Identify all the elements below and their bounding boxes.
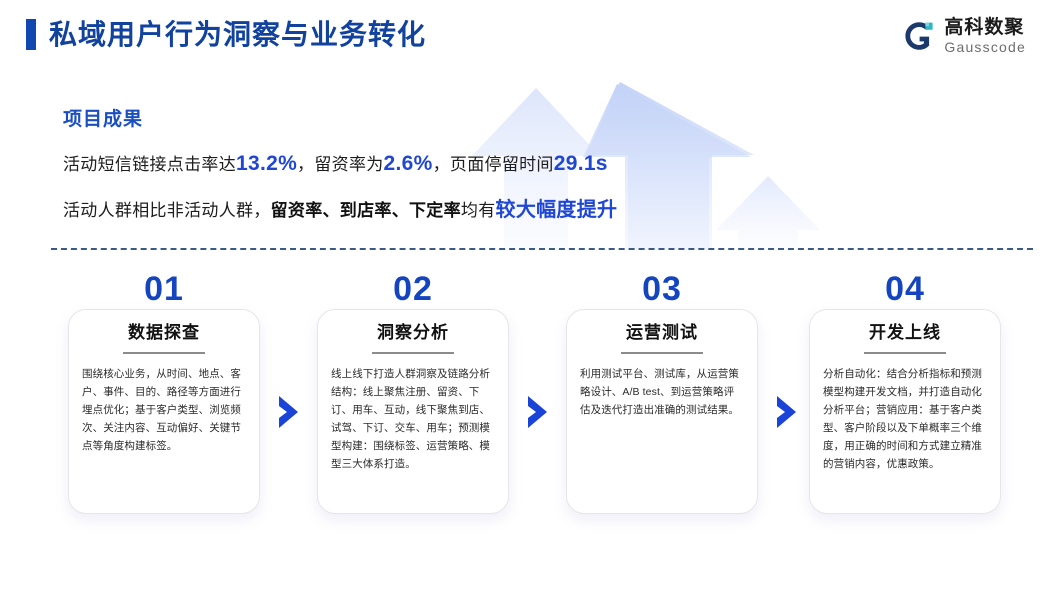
- results-line-2: 活动人群相比非活动人群，留资率、到店率、下定率均有较大幅度提升: [63, 200, 617, 220]
- step-description-02: 线上线下打造人群洞察及链路分析结构：线上聚焦注册、留资、下订、用车、互动，线下聚…: [331, 365, 495, 473]
- metric-dwell-time: 29.1s: [554, 152, 608, 175]
- process-steps: 01 数据探查 围绕核心业务，从时间、地点、客户、事件、目的、路径等方面进行埋点…: [0, 272, 1048, 532]
- logo-name-en: Gausscode: [944, 40, 1026, 54]
- results-line-1: 活动短信链接点击率达13.2%，留资率为2.6%，页面停留时间29.1s: [63, 153, 617, 174]
- results-heading: 项目成果: [63, 110, 617, 129]
- metric-click-rate: 13.2%: [236, 152, 297, 175]
- step-card-body-03[interactable]: 运营测试 利用测试平台、测试库，从运营策略设计、A/B test、到运营策略评估…: [566, 309, 758, 514]
- step-number-03: 03: [566, 272, 758, 310]
- step-card-02[interactable]: 02 洞察分析 线上线下打造人群洞察及链路分析结构：线上聚焦注册、留资、下订、用…: [317, 272, 509, 514]
- step-number-01: 01: [68, 272, 260, 310]
- page-title: 私域用户行为洞察与业务转化: [26, 19, 426, 50]
- logo-text: 高科数聚 Gausscode: [944, 18, 1026, 54]
- section-divider: [51, 248, 1033, 250]
- step-title-01: 数据探查: [82, 324, 246, 343]
- chevron-right-icon-1: [276, 394, 302, 430]
- results-line2-seg1: 活动人群相比非活动人群，: [63, 201, 271, 220]
- step-title-03: 运营测试: [580, 324, 744, 343]
- chevron-right-icon-3: [774, 394, 800, 430]
- step-number-02: 02: [317, 272, 509, 310]
- step-card-body-04[interactable]: 开发上线 分析自动化：结合分析指标和预测模型构建开发文档，并打造自动化分析平台；…: [809, 309, 1001, 514]
- step-card-01[interactable]: 01 数据探查 围绕核心业务，从时间、地点、客户、事件、目的、路径等方面进行埋点…: [68, 272, 260, 514]
- project-results-section: 项目成果 活动短信链接点击率达13.2%，留资率为2.6%，页面停留时间29.1…: [63, 110, 617, 220]
- results-line2-bold-metrics: 留资率、到店率、下定率: [271, 201, 461, 220]
- logo-mark-icon: [902, 19, 936, 53]
- title-text: 私域用户行为洞察与业务转化: [49, 21, 426, 49]
- step-description-03: 利用测试平台、测试库，从运营策略设计、A/B test、到运营策略评估及迭代打造…: [580, 365, 744, 419]
- slide-header: 私域用户行为洞察与业务转化 高科数聚 Gausscode: [0, 0, 1048, 80]
- step-card-04[interactable]: 04 开发上线 分析自动化：结合分析指标和预测模型构建开发文档，并打造自动化分析…: [809, 272, 1001, 514]
- title-accent-bar: [26, 19, 36, 50]
- step-card-03[interactable]: 03 运营测试 利用测试平台、测试库，从运营策略设计、A/B test、到运营策…: [566, 272, 758, 514]
- results-line2-emphasis: 较大幅度提升: [496, 199, 618, 221]
- step-title-04: 开发上线: [823, 324, 987, 343]
- results-line2-seg2: 均有: [461, 201, 496, 220]
- step-title-rule-01: [123, 352, 205, 354]
- decor-arrow-right: [716, 176, 820, 250]
- step-number-04: 04: [809, 272, 1001, 310]
- step-description-04: 分析自动化：结合分析指标和预测模型构建开发文档，并打造自动化分析平台；营销应用：…: [823, 365, 987, 473]
- slide-root: 私域用户行为洞察与业务转化 高科数聚 Gausscode 项目成果 活动短信链接…: [0, 0, 1048, 591]
- results-line1-seg2: ，留资率为: [297, 155, 384, 174]
- step-card-body-01[interactable]: 数据探查 围绕核心业务，从时间、地点、客户、事件、目的、路径等方面进行埋点优化；…: [68, 309, 260, 514]
- results-line1-seg3: ，页面停留时间: [433, 155, 554, 174]
- step-description-01: 围绕核心业务，从时间、地点、客户、事件、目的、路径等方面进行埋点优化；基于客户类…: [82, 365, 246, 455]
- brand-logo: 高科数聚 Gausscode: [902, 18, 1026, 54]
- step-title-02: 洞察分析: [331, 324, 495, 343]
- results-line1-seg1: 活动短信链接点击率达: [63, 155, 236, 174]
- step-title-rule-02: [372, 352, 454, 354]
- logo-name-cn: 高科数聚: [944, 18, 1026, 37]
- step-card-body-02[interactable]: 洞察分析 线上线下打造人群洞察及链路分析结构：线上聚焦注册、留资、下订、用车、互…: [317, 309, 509, 514]
- metric-lead-rate: 2.6%: [384, 152, 433, 175]
- chevron-right-icon-2: [525, 394, 551, 430]
- step-title-rule-04: [864, 352, 946, 354]
- step-title-rule-03: [621, 352, 703, 354]
